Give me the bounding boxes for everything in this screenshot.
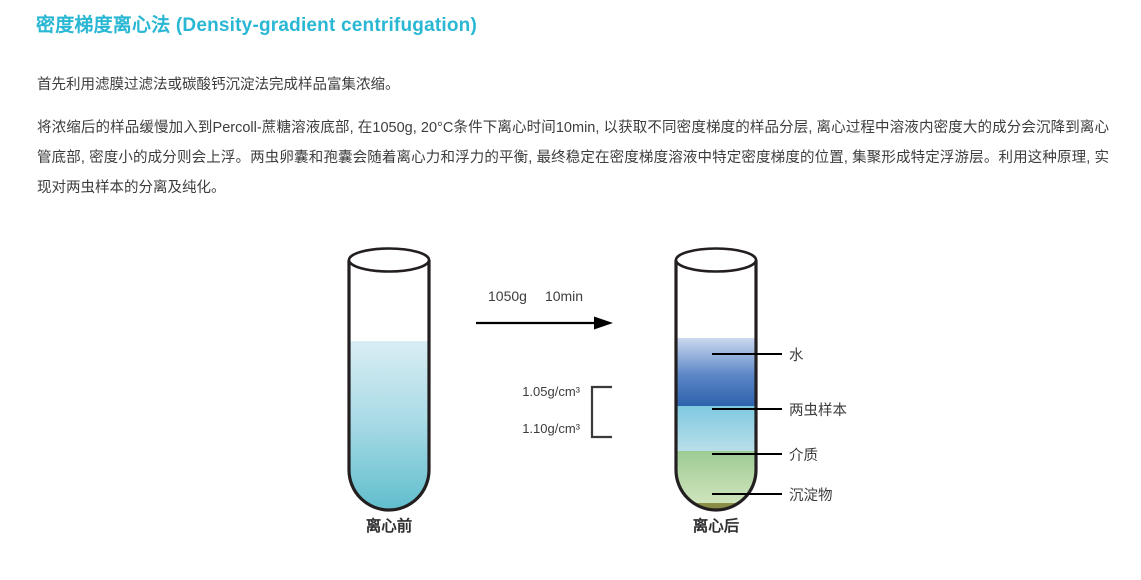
centrifugation-arrow-block: 1050g 10min <box>476 288 626 331</box>
arrow-force-label: 1050g <box>488 288 527 304</box>
density-marker-lower: 1.10g/cm³ <box>494 421 580 436</box>
layer-label-water: 水 <box>789 344 804 365</box>
layer-label-sediment: 沉淀物 <box>789 484 833 505</box>
centrifugation-figure: 离心前 1050g 10min 1.05g/cm³ 1.10g/cm³ <box>0 232 1141 562</box>
intro-paragraph: 首先利用滤膜过滤法或碳酸钙沉淀法完成样品富集浓缩。 <box>37 74 400 96</box>
after-tube-rim <box>676 249 756 272</box>
density-range-bracket <box>588 385 614 439</box>
before-tube-rim <box>349 249 429 272</box>
page-title: 密度梯度离心法 (Density-gradient centrifugation… <box>36 10 477 37</box>
arrow-icon <box>476 315 616 331</box>
before-tube-caption: 离心前 <box>309 514 469 536</box>
before-tube-graphic <box>337 246 441 518</box>
arrow-time-label: 10min <box>545 288 583 304</box>
before-centrifugation-tube <box>337 246 441 518</box>
detail-paragraph: 将浓缩后的样品缓慢加入到Percoll-蔗糖溶液底部, 在1050g, 20°C… <box>37 113 1109 203</box>
arrow-condition-labels: 1050g 10min <box>476 288 626 304</box>
density-marker-upper: 1.05g/cm³ <box>494 384 580 399</box>
layer-callout-lines <box>712 342 784 512</box>
before-tube-liquid <box>347 341 431 516</box>
after-tube-caption: 离心后 <box>636 514 796 536</box>
layer-label-medium: 介质 <box>789 444 818 465</box>
layer-label-sample: 两虫样本 <box>789 399 847 420</box>
